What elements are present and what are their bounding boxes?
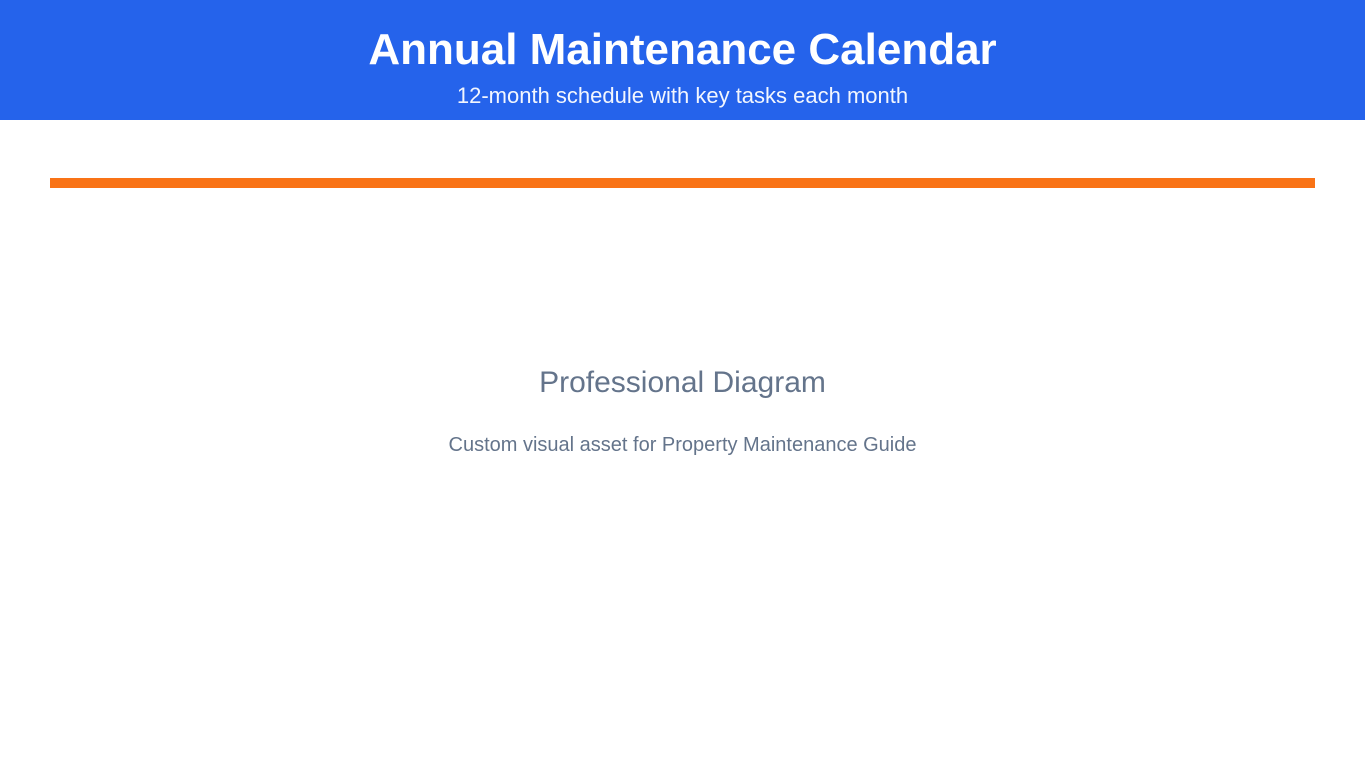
page-header: Annual Maintenance Calendar 12-month sch… — [0, 0, 1365, 120]
diagram-page: Annual Maintenance Calendar 12-month sch… — [0, 0, 1365, 768]
placeholder-heading: Professional Diagram — [539, 365, 826, 401]
page-subtitle: 12-month schedule with key tasks each mo… — [457, 83, 908, 109]
placeholder-caption: Custom visual asset for Property Mainten… — [449, 433, 917, 457]
placeholder-content: Professional Diagram Custom visual asset… — [0, 365, 1365, 457]
diagram-body: Professional Diagram Custom visual asset… — [0, 120, 1365, 768]
page-title: Annual Maintenance Calendar — [368, 26, 996, 74]
accent-divider — [50, 178, 1315, 188]
